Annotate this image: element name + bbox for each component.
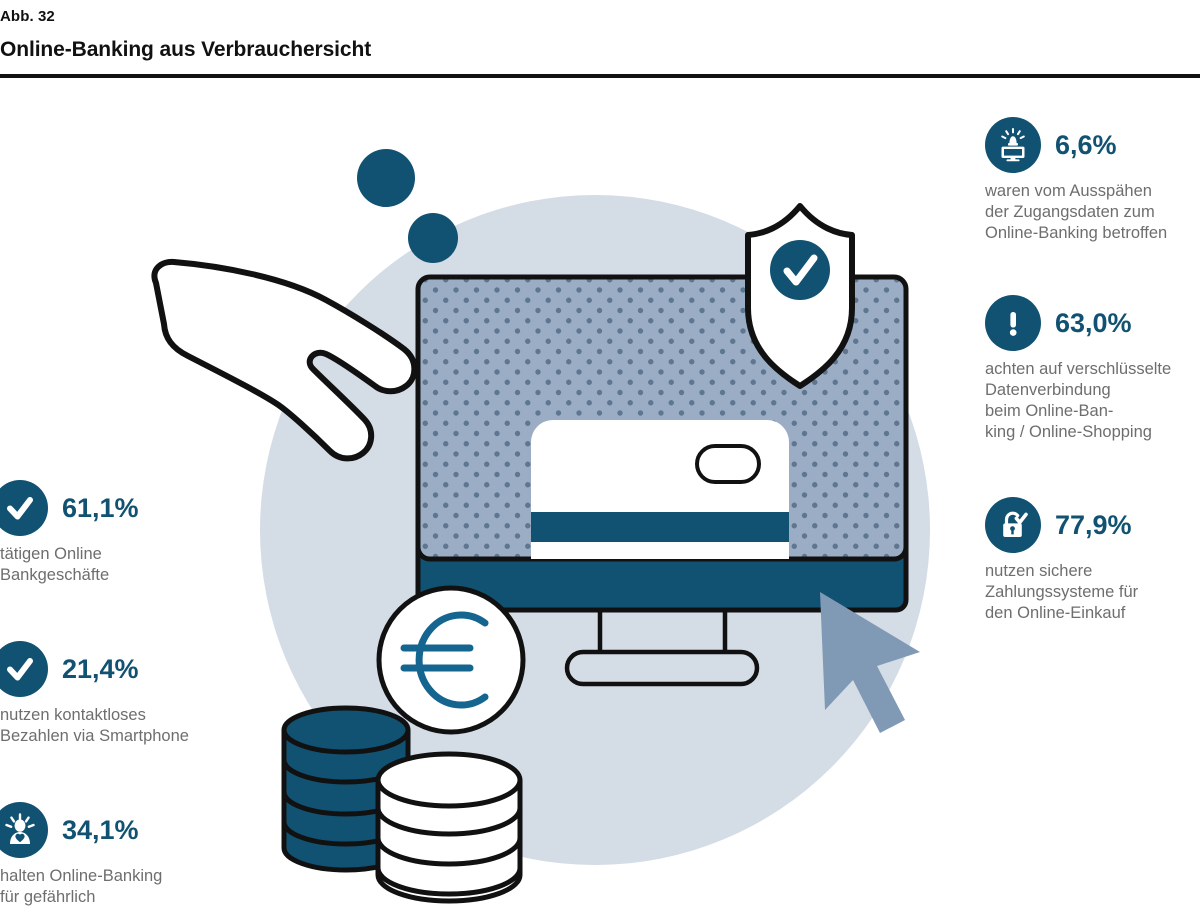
infographic-page: Abb. 32 Online-Banking aus Verbrauchersi… <box>0 0 1200 915</box>
stat-value: 61,1% <box>62 493 139 524</box>
header-divider <box>0 74 1200 78</box>
stat-header: 77,9% <box>985 497 1200 553</box>
stat-block-secure-payment: 77,9% nutzen sichere Zahlungssysteme für… <box>985 497 1200 624</box>
stat-block-contactless-payment: 21,4% nutzen kontaktloses Bezahlen via S… <box>0 641 189 747</box>
stat-header: 61,1% <box>0 480 139 536</box>
stat-block-encrypted-connection: 63,0% achten auf verschlüsselte Datenver… <box>985 295 1200 443</box>
page-title: Online-Banking aus Verbrauchersicht <box>0 38 371 62</box>
stat-description: nutzen sichere Zahlungssysteme für den O… <box>985 561 1200 624</box>
euro-coin <box>379 588 523 732</box>
header: Abb. 32 Online-Banking aus Verbrauchersi… <box>0 0 1200 80</box>
figure-label: Abb. 32 <box>0 8 55 25</box>
exclamation-icon <box>985 295 1041 351</box>
stat-header: 6,6% <box>985 117 1200 173</box>
coin-stack-white <box>378 754 520 901</box>
monitor-alarm-icon <box>985 117 1041 173</box>
stat-block-phishing-affected: 6,6% waren vom Ausspähen der Zugangsdate… <box>985 117 1200 244</box>
stat-block-perceived-danger: 34,1% halten Online-Banking für gefährli… <box>0 802 162 908</box>
stat-description: waren vom Ausspähen der Zugangsdaten zum… <box>985 181 1200 244</box>
stat-value: 21,4% <box>62 654 139 685</box>
stat-header: 34,1% <box>0 802 162 858</box>
stat-description: achten auf verschlüsselte Datenverbindun… <box>985 359 1200 443</box>
stat-description: nutzen kontaktloses Bezahlen via Smartph… <box>0 705 189 747</box>
stat-value: 34,1% <box>62 815 139 846</box>
stat-value: 6,6% <box>1055 130 1117 161</box>
stat-header: 21,4% <box>0 641 189 697</box>
worried-person-icon <box>0 802 48 858</box>
lock-check-icon <box>985 497 1041 553</box>
stat-block-banking-transactions: 61,1% tätigen Online Bankgeschäfte <box>0 480 139 586</box>
stat-value: 77,9% <box>1055 510 1132 541</box>
stat-header: 63,0% <box>985 295 1200 351</box>
shield-check-badge <box>748 206 852 386</box>
stat-description: tätigen Online Bankgeschäfte <box>0 544 139 586</box>
stat-description: halten Online-Banking für gefährlich <box>0 866 162 908</box>
check-icon <box>0 641 48 697</box>
check-icon <box>0 480 48 536</box>
falling-coin-large <box>357 149 415 207</box>
stat-value: 63,0% <box>1055 308 1132 339</box>
falling-coin-small <box>408 213 458 263</box>
